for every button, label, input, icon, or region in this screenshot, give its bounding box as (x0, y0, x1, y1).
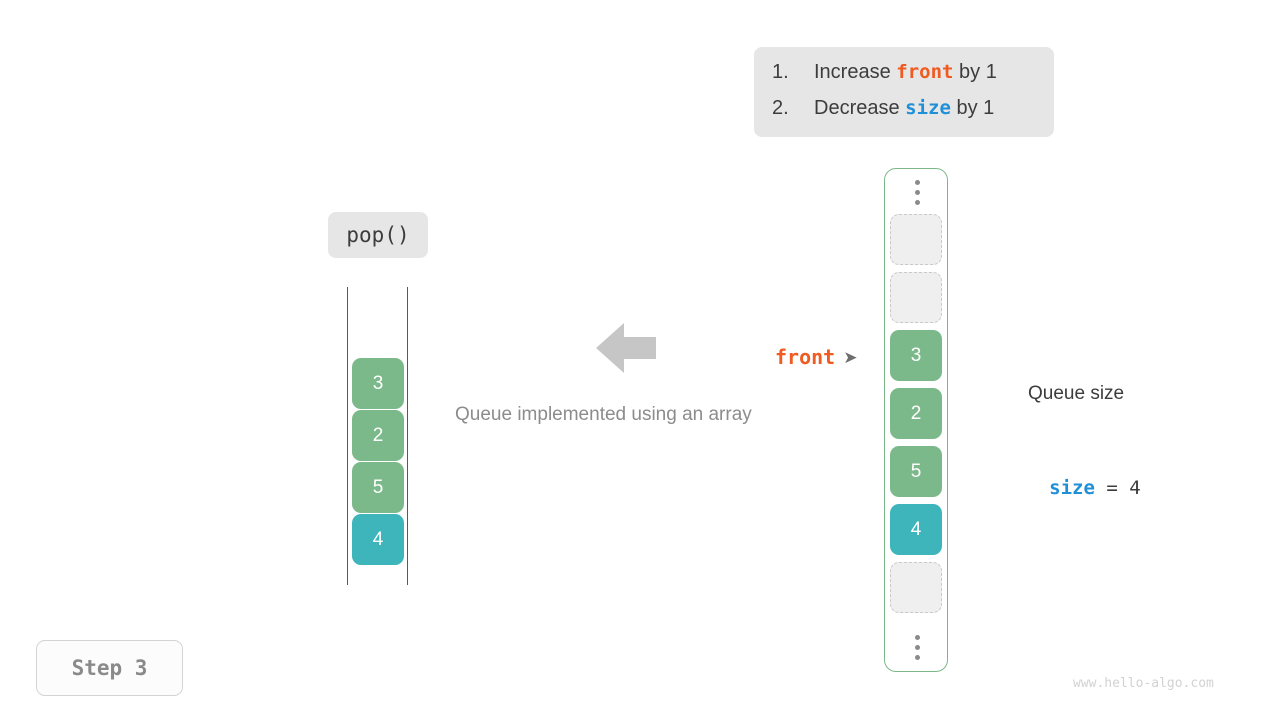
left-arrow-icon (596, 323, 656, 373)
dot (915, 655, 920, 660)
array-slot-empty (890, 214, 942, 265)
instruction-item-1: 1. Increase front by 1 (754, 61, 1054, 97)
array-slot-filled: 5 (890, 446, 942, 497)
result-queue-column: 3 2 5 4 (340, 287, 415, 585)
instruction-text-post: by 1 (953, 61, 996, 84)
instruction-item-2: 2. Decrease size by 1 (754, 97, 1054, 133)
result-cell: 3 (352, 358, 404, 409)
result-cell: 5 (352, 462, 404, 513)
size-variable: size (1049, 477, 1095, 499)
right-chevron-icon: ➤ (843, 349, 857, 366)
queue-size-readout: Queue size size = 4 (1028, 344, 1141, 543)
size-value: 4 (1129, 477, 1140, 499)
column-rail-left (347, 287, 348, 585)
result-cell: 4 (352, 514, 404, 565)
instruction-number: 2. (772, 97, 814, 120)
dot (915, 180, 920, 185)
dot (915, 190, 920, 195)
instruction-number: 1. (772, 61, 814, 84)
front-pointer: front ➤ (775, 345, 857, 369)
instruction-variable-front: front (896, 61, 953, 83)
queue-size-title: Queue size (1028, 380, 1141, 408)
instruction-text-pre: Increase (814, 61, 896, 84)
dot (915, 635, 920, 640)
array-container: 3 2 5 4 (884, 168, 948, 672)
front-pointer-label: front (775, 345, 835, 369)
array-slot-head: 4 (890, 504, 942, 555)
dot (915, 645, 920, 650)
size-equals: = (1095, 477, 1129, 499)
instruction-callout: 1. Increase front by 1 2. Decrease size … (754, 47, 1054, 137)
array-slot-stack: 3 2 5 4 (890, 214, 942, 620)
step-badge: Step 3 (36, 640, 183, 696)
instruction-text-post: by 1 (951, 97, 994, 120)
array-slot-filled: 2 (890, 388, 942, 439)
array-slot-empty (890, 562, 942, 613)
vertical-ellipsis-icon-bottom (885, 624, 949, 671)
watermark: www.hello-algo.com (1073, 676, 1214, 691)
array-slot-empty (890, 272, 942, 323)
column-rail-right (407, 287, 408, 585)
result-cell: 2 (352, 410, 404, 461)
instruction-variable-size: size (905, 97, 951, 119)
dot (915, 200, 920, 205)
vertical-ellipsis-icon-top (885, 169, 949, 216)
instruction-text-pre: Decrease (814, 97, 905, 120)
operation-badge-pop: pop() (328, 212, 428, 258)
result-cell-stack: 3 2 5 4 (352, 358, 404, 566)
queue-size-expression: size = 4 (1028, 452, 1141, 525)
array-slot-filled: 3 (890, 330, 942, 381)
diagram-caption: Queue implemented using an array (455, 404, 752, 426)
